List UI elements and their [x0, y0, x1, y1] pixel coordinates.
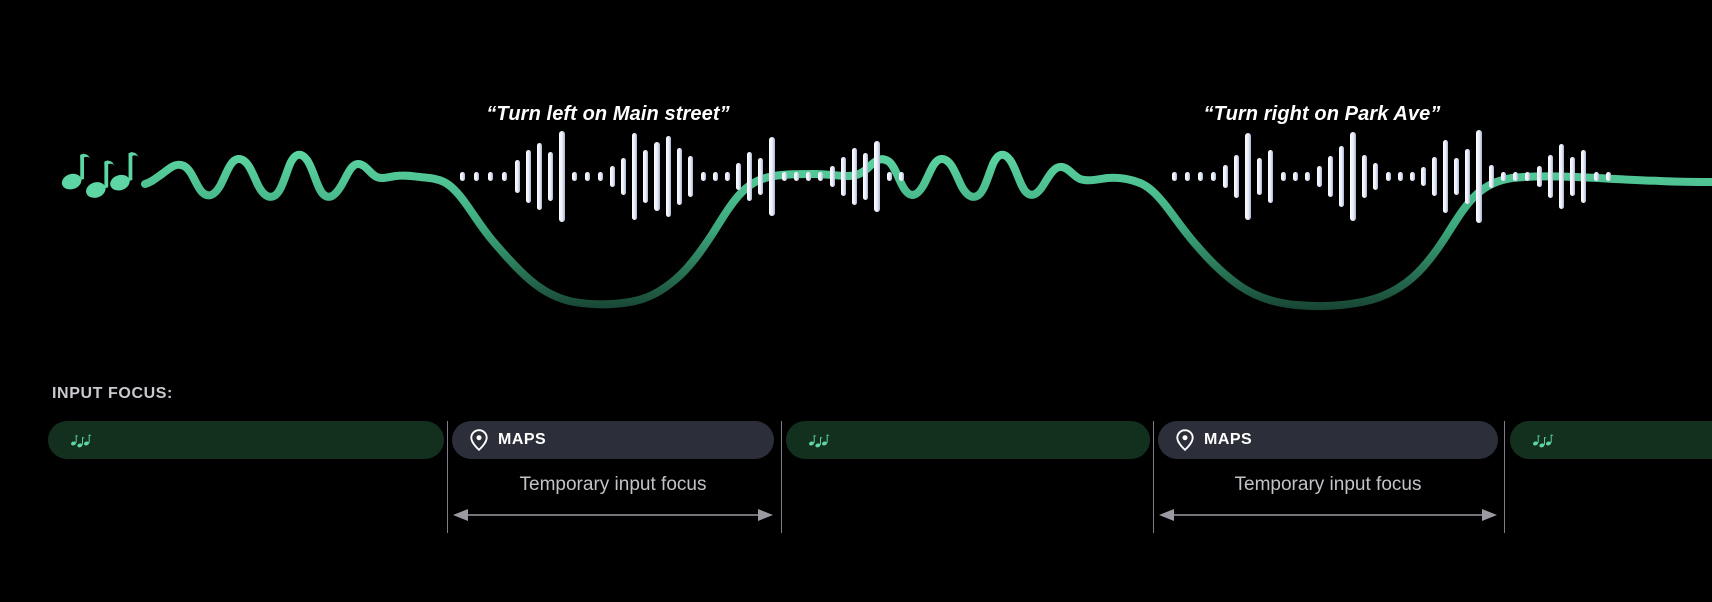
ambient-audio-segment-3[interactable] [1510, 421, 1712, 459]
maps-label-1: MAPS [498, 431, 546, 449]
segment-divider-1 [447, 421, 448, 533]
temporary-focus-measure-1: Temporary input focus [452, 474, 774, 522]
ambient-audio-segment-1[interactable] [48, 421, 444, 459]
music-notes-icon [60, 152, 139, 200]
music-notes-icon [808, 430, 834, 450]
screenshot-root: “Turn left on Main street” “Turn right o… [0, 0, 1712, 602]
utterance-label-1: “Turn left on Main street” [486, 103, 729, 126]
utterance-label-2: “Turn right on Park Ave” [1204, 103, 1441, 126]
audio-timeline: “Turn left on Main street” “Turn right o… [0, 0, 1712, 360]
temporary-focus-measure-2: Temporary input focus [1158, 474, 1498, 522]
maps-label-2: MAPS [1204, 431, 1252, 449]
ambient-audio-segment-2[interactable] [786, 421, 1150, 459]
measure-arrow-2 [1158, 474, 1498, 522]
music-notes-icon [1532, 430, 1558, 450]
segment-divider-4 [1504, 421, 1505, 533]
waveform-canvas [0, 0, 1712, 360]
maps-focus-segment-2[interactable]: MAPS [1158, 421, 1498, 459]
input-focus-label: INPUT FOCUS: [52, 385, 173, 403]
segment-divider-2 [781, 421, 782, 533]
map-pin-icon [1176, 429, 1194, 451]
segment-divider-3 [1153, 421, 1154, 533]
map-pin-icon [470, 429, 488, 451]
maps-focus-segment-1[interactable]: MAPS [452, 421, 774, 459]
measure-arrow-1 [452, 474, 774, 522]
music-notes-icon [70, 430, 96, 450]
